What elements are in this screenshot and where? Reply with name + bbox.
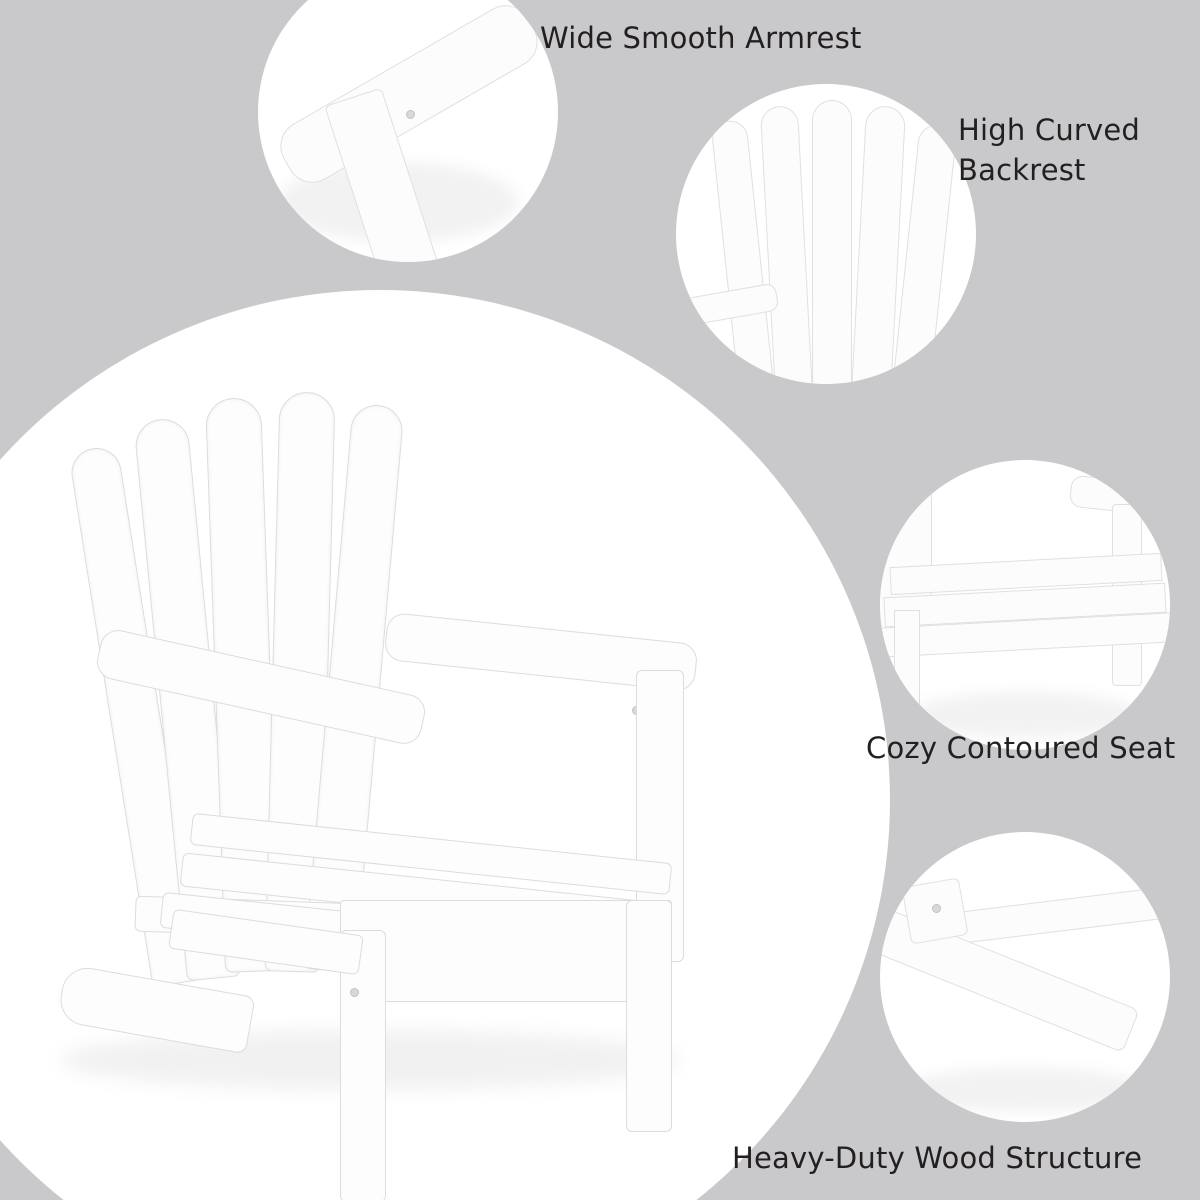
front-leg-right [626, 900, 672, 1132]
callout-armrest-detail [258, 0, 558, 262]
leg-screw-b [350, 988, 359, 997]
callout-structure-detail [880, 832, 1170, 1122]
seat-front-apron [340, 900, 672, 1002]
armrest-detail-screw [406, 110, 415, 119]
label-high-curved-backrest: High Curved Backrest [958, 110, 1140, 190]
structure-detail-screw [932, 904, 941, 913]
callout-backrest-detail [676, 84, 976, 384]
label-cozy-contoured-seat: Cozy Contoured Seat [866, 728, 1175, 768]
main-chair-photo [40, 340, 840, 1200]
product-feature-infographic: Wide Smooth Armrest High Curved Backrest… [0, 0, 1200, 1200]
backrest-detail-slat-3 [812, 100, 852, 384]
label-wide-smooth-armrest: Wide Smooth Armrest [540, 18, 862, 58]
structure-detail-shadow [900, 1068, 1150, 1112]
callout-seat-detail [880, 460, 1170, 750]
label-heavy-duty-wood-structure: Heavy-Duty Wood Structure [732, 1138, 1142, 1178]
